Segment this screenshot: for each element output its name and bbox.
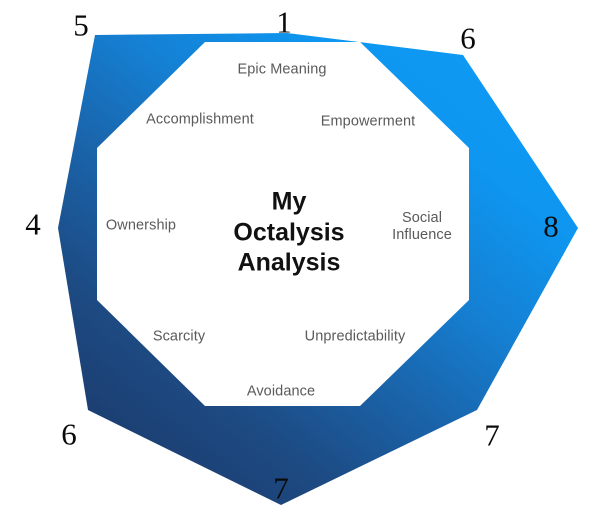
inner-octagon <box>97 42 469 406</box>
octalysis-chart-svg <box>0 0 603 516</box>
octalysis-radar-figure: My Octalysis Analysis Epic Meaning Accom… <box>0 0 603 516</box>
